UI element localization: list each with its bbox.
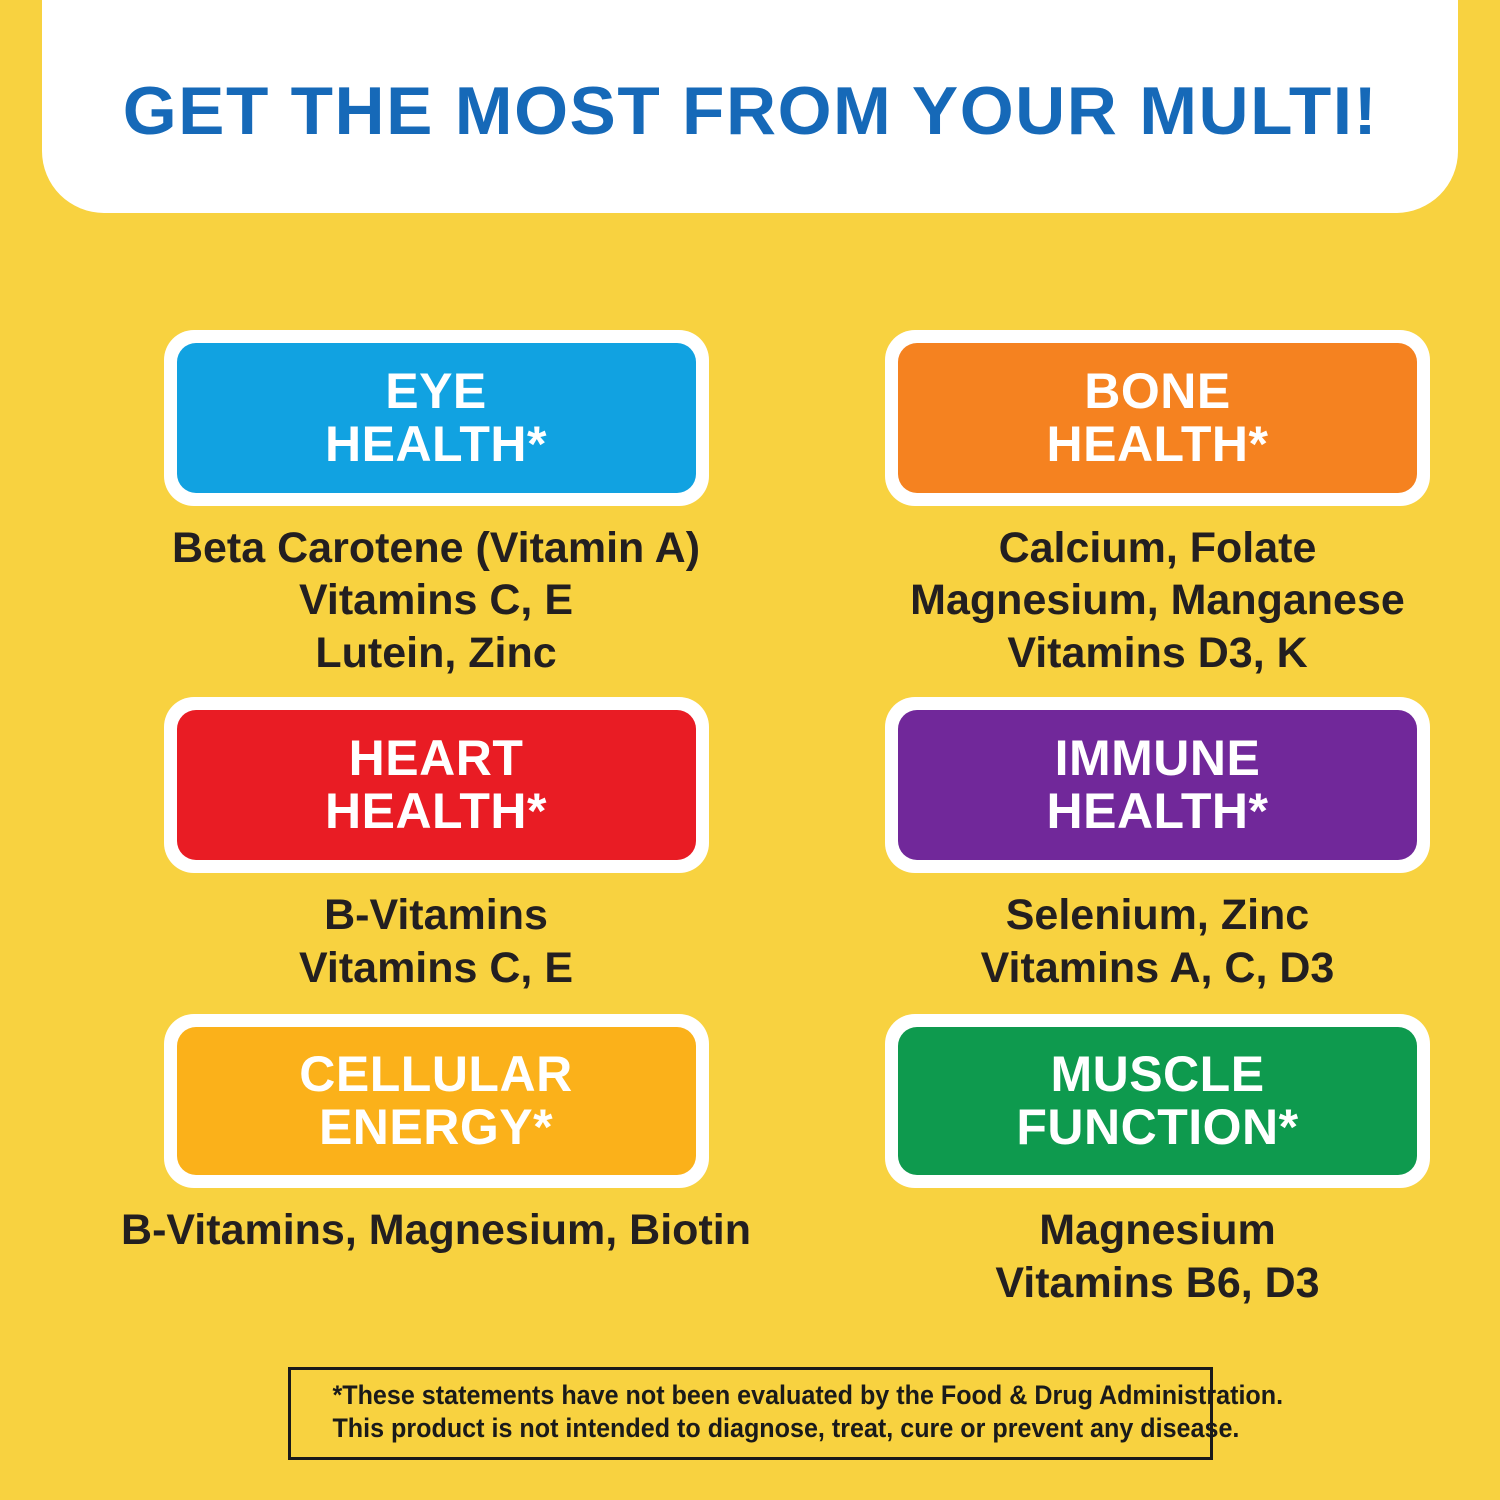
nutrient-list-immune-health: Selenium, Zinc Vitamins A, C, D3 <box>981 889 1335 994</box>
nutrient-line: Vitamins A, C, D3 <box>981 942 1335 994</box>
nutrient-line: Selenium, Zinc <box>981 889 1335 941</box>
badge-muscle-function: MUSCLE FUNCTION* <box>898 1027 1417 1175</box>
nutrient-line: Vitamins D3, K <box>910 627 1405 679</box>
badge-line-1: IMMUNE <box>1055 732 1261 785</box>
nutrient-list-cellular-energy: B-Vitamins, Magnesium, Biotin <box>121 1204 751 1256</box>
nutrient-line: Magnesium, Manganese <box>910 574 1405 626</box>
badge-line-1: BONE <box>1084 365 1230 418</box>
badge-line-2: FUNCTION* <box>1016 1101 1298 1154</box>
header-panel: GET THE MOST FROM YOUR MULTI! <box>42 0 1458 213</box>
benefit-badge-eye-health[interactable]: EYE HEALTH* <box>164 330 709 506</box>
badge-cellular-energy: CELLULAR ENERGY* <box>177 1027 696 1175</box>
benefit-badge-muscle-function[interactable]: MUSCLE FUNCTION* <box>885 1014 1430 1188</box>
badge-bone-health: BONE HEALTH* <box>898 343 1417 493</box>
benefit-row: EYE HEALTH* Beta Carotene (Vitamin A) Vi… <box>0 330 1500 679</box>
nutrient-line: Lutein, Zinc <box>172 627 700 679</box>
nutrient-line: B-Vitamins <box>299 889 573 941</box>
page-title: GET THE MOST FROM YOUR MULTI! <box>122 77 1378 145</box>
disclaimer-box: *These statements have not been evaluate… <box>288 1367 1213 1460</box>
nutrient-line: Calcium, Folate <box>910 522 1405 574</box>
badge-line-2: HEALTH* <box>325 418 547 471</box>
badge-line-1: CELLULAR <box>299 1048 572 1101</box>
nutrient-line: Magnesium <box>995 1204 1319 1256</box>
benefit-column: BONE HEALTH* Calcium, Folate Magnesium, … <box>750 330 1500 679</box>
nutrient-list-heart-health: B-Vitamins Vitamins C, E <box>299 889 573 994</box>
disclaimer-line-2: This product is not intended to diagnose… <box>332 1412 1168 1445</box>
badge-immune-health: IMMUNE HEALTH* <box>898 710 1417 860</box>
nutrient-list-eye-health: Beta Carotene (Vitamin A) Vitamins C, E … <box>172 522 700 679</box>
benefit-column: HEART HEALTH* B-Vitamins Vitamins C, E <box>0 697 750 994</box>
benefit-row: CELLULAR ENERGY* B-Vitamins, Magnesium, … <box>0 1014 1500 1309</box>
badge-line-2: ENERGY* <box>319 1101 553 1154</box>
badge-line-2: HEALTH* <box>1046 785 1268 838</box>
benefit-badge-immune-health[interactable]: IMMUNE HEALTH* <box>885 697 1430 873</box>
nutrient-line: Beta Carotene (Vitamin A) <box>172 522 700 574</box>
nutrient-line: B-Vitamins, Magnesium, Biotin <box>121 1204 751 1256</box>
nutrient-line: Vitamins B6, D3 <box>995 1257 1319 1309</box>
benefit-badge-heart-health[interactable]: HEART HEALTH* <box>164 697 709 873</box>
benefit-column: EYE HEALTH* Beta Carotene (Vitamin A) Vi… <box>0 330 750 679</box>
benefit-column: MUSCLE FUNCTION* Magnesium Vitamins B6, … <box>750 1014 1500 1309</box>
badge-line-2: HEALTH* <box>325 785 547 838</box>
badge-eye-health: EYE HEALTH* <box>177 343 696 493</box>
disclaimer-line-1: *These statements have not been evaluate… <box>332 1379 1168 1412</box>
benefit-badge-cellular-energy[interactable]: CELLULAR ENERGY* <box>164 1014 709 1188</box>
nutrient-line: Vitamins C, E <box>172 574 700 626</box>
badge-line-1: HEART <box>349 732 524 785</box>
benefit-column: IMMUNE HEALTH* Selenium, Zinc Vitamins A… <box>750 697 1500 994</box>
badge-line-1: EYE <box>385 365 487 418</box>
benefits-grid: EYE HEALTH* Beta Carotene (Vitamin A) Vi… <box>0 330 1500 1309</box>
nutrient-list-bone-health: Calcium, Folate Magnesium, Manganese Vit… <box>910 522 1405 679</box>
benefit-row: HEART HEALTH* B-Vitamins Vitamins C, E I… <box>0 697 1500 994</box>
benefit-column: CELLULAR ENERGY* B-Vitamins, Magnesium, … <box>0 1014 750 1309</box>
nutrient-line: Vitamins C, E <box>299 942 573 994</box>
benefit-badge-bone-health[interactable]: BONE HEALTH* <box>885 330 1430 506</box>
badge-line-2: HEALTH* <box>1046 418 1268 471</box>
badge-heart-health: HEART HEALTH* <box>177 710 696 860</box>
badge-line-1: MUSCLE <box>1050 1048 1264 1101</box>
nutrient-list-muscle-function: Magnesium Vitamins B6, D3 <box>995 1204 1319 1309</box>
